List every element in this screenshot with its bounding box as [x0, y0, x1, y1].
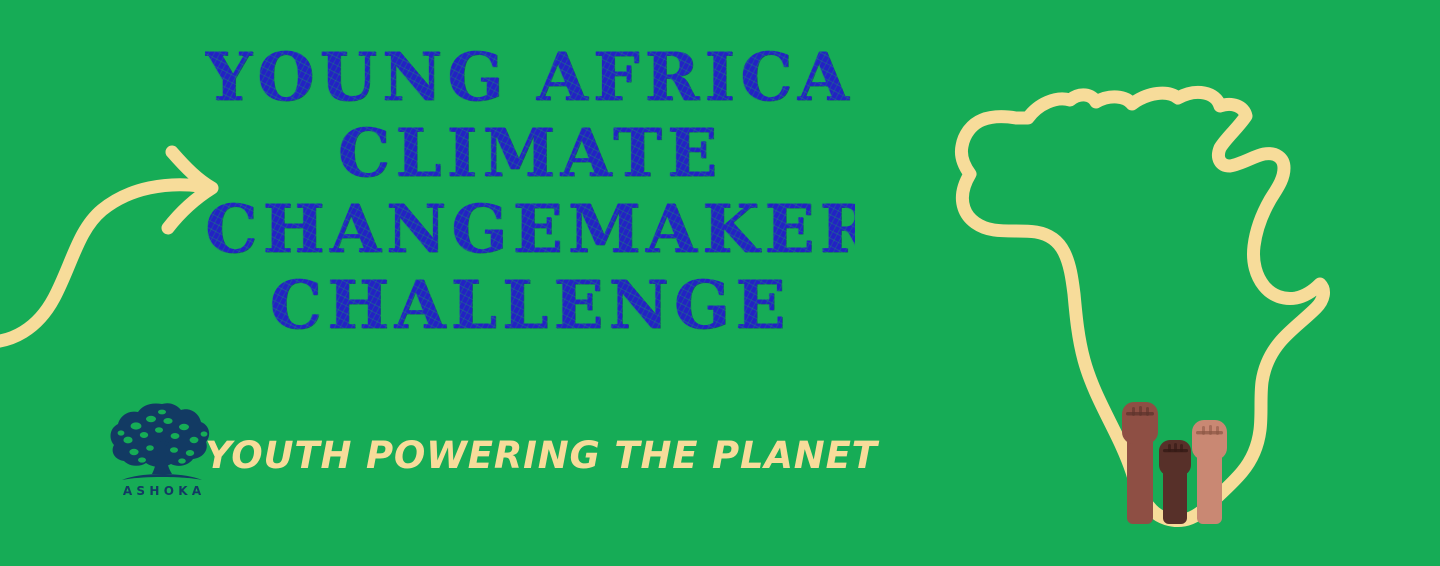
headline-line-2: CLIMATE	[205, 120, 855, 188]
poster-canvas: YOUNG AFRICAN CLIMATE CHANGEMAKERS CHALL…	[0, 0, 1440, 566]
tagline: YOUTH POWERING THE PLANET	[205, 434, 855, 477]
raised-fist-left	[1122, 402, 1158, 524]
page-title: YOUNG AFRICAN CLIMATE CHANGEMAKERS CHALL…	[205, 44, 855, 340]
ashoka-logo: ASHOKA	[106, 398, 218, 506]
africa-map-outline	[920, 62, 1340, 532]
tree-icon	[106, 398, 218, 486]
headline-line-3: CHANGEMAKERS	[205, 196, 855, 264]
raised-fists-group	[1122, 402, 1227, 524]
ashoka-wordmark: ASHOKA	[106, 484, 218, 498]
raised-fist-right	[1192, 420, 1227, 524]
raised-fist-center	[1159, 440, 1191, 524]
headline-line-1: YOUNG AFRICAN	[205, 44, 855, 112]
headline-line-4: CHALLENGE	[205, 272, 855, 340]
